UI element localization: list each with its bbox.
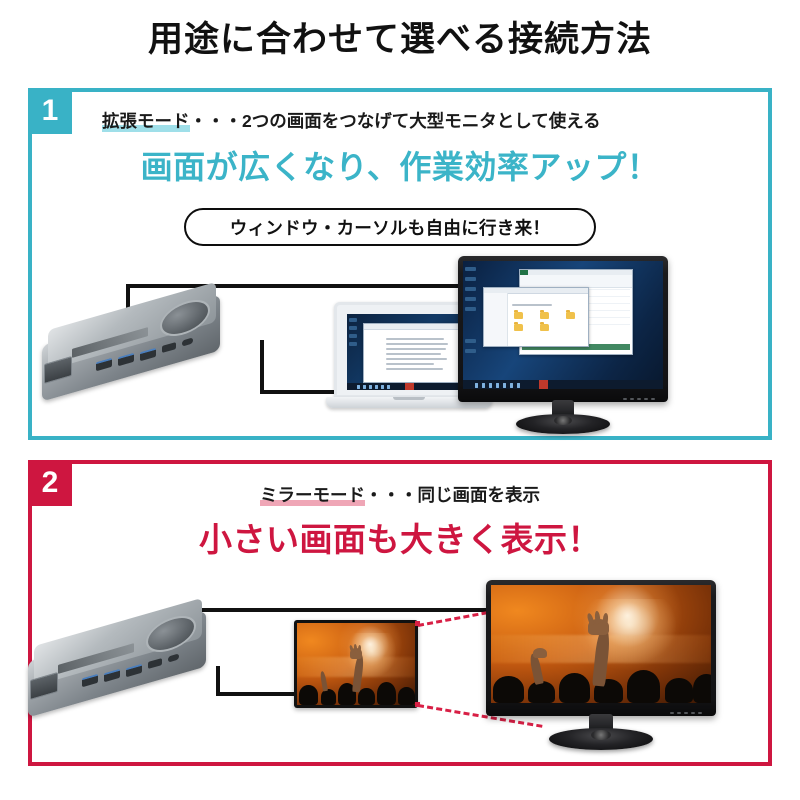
crowd-head <box>693 674 711 703</box>
section-1-badge: 1 <box>28 88 72 134</box>
section-1-subtitle: 拡張モード・・・2つの画面をつなげて大型モニタとして使える <box>102 108 601 134</box>
monitor-osd-buttons[interactable] <box>623 398 655 400</box>
cable2-horizontal-top <box>186 608 496 612</box>
monitor-bezel <box>458 256 668 402</box>
doc-line <box>386 368 443 370</box>
taskbar-icon <box>387 385 390 389</box>
crowd-head <box>627 670 660 703</box>
taskbar-icon <box>496 383 499 388</box>
taskbar-icon <box>375 385 378 389</box>
infographic-page: 用途に合わせて選べる接続方法 1 拡張モード・・・2つの画面をつなげて大型モニタ… <box>0 0 800 800</box>
file-explorer-window <box>483 287 589 347</box>
section-2-headline: 小さい画面も大きく表示！ <box>0 518 800 562</box>
folder-icon <box>566 312 575 319</box>
laptop-trackpad-notch <box>393 397 425 400</box>
laptop-desktop-icon-3 <box>349 334 357 338</box>
explorer-nav-pane <box>484 293 508 347</box>
monitor-base-hub <box>554 416 572 425</box>
crowd-head <box>321 689 336 705</box>
doc-line <box>386 353 441 355</box>
taskbar-icon <box>482 383 485 388</box>
concert-photo-small <box>297 623 415 705</box>
section-2-subtitle-rest: ・・・同じ画面を表示 <box>365 485 540 505</box>
external-monitor-2 <box>486 580 716 750</box>
laptop-desktop-icon-1 <box>349 318 357 322</box>
taskbar-icon <box>357 385 360 389</box>
doc-line <box>386 363 434 365</box>
desktop-icon-4 <box>465 297 476 301</box>
laptop-screen <box>347 314 475 390</box>
taskbar-icon <box>363 385 366 389</box>
small-display-device <box>294 620 418 708</box>
monitor-taskbar-active-app <box>539 380 548 389</box>
word-window-titlebar <box>364 324 470 330</box>
external-monitor <box>458 256 668 436</box>
taskbar-icon <box>517 383 520 388</box>
folder-icon <box>540 324 549 331</box>
crowd-head <box>559 673 590 703</box>
projection-corner-dot-bl <box>415 702 420 707</box>
cable-hub-to-monitor-horizontal <box>126 284 466 288</box>
taskbar-active-app <box>405 383 414 390</box>
taskbar-icon <box>510 383 513 388</box>
finger <box>602 613 608 625</box>
laptop-desktop-icon-4 <box>349 342 357 346</box>
desktop-icon-1 <box>465 267 476 271</box>
docking-hub-device <box>42 298 232 408</box>
monitor-screen <box>463 261 663 389</box>
doc-line <box>386 348 446 350</box>
section-1-illustration <box>28 256 772 436</box>
section-1-headline: 画面が広くなり、作業効率アップ！ <box>0 146 800 188</box>
doc-line <box>386 358 447 360</box>
crowd-head <box>299 685 318 705</box>
desktop-icon-2 <box>465 277 476 281</box>
monitor-screen-2 <box>491 585 711 703</box>
section-1-subtitle-highlight: 拡張モード <box>102 111 190 132</box>
crowd-head <box>398 687 415 705</box>
folder-icon <box>514 324 523 331</box>
cable2-horizontal-bottom <box>216 692 298 696</box>
section-2-subtitle-highlight: ミラーモード <box>260 485 365 506</box>
small-display-screen <box>297 623 415 705</box>
folder-icon <box>540 312 549 319</box>
folder-icon <box>514 312 523 319</box>
taskbar-icon <box>475 383 478 388</box>
crowd-head <box>528 681 554 703</box>
section-1-callout-text: ウィンドウ・カーソルも自由に行き来！ <box>230 215 550 240</box>
cable-hub-to-laptop-vertical <box>260 340 264 394</box>
section-1-callout-pill: ウィンドウ・カーソルも自由に行き来！ <box>184 208 596 246</box>
taskbar-icon <box>503 383 506 388</box>
taskbar-icon <box>489 383 492 388</box>
desktop-icon-6 <box>465 339 476 343</box>
taskbar-icon <box>369 385 372 389</box>
projection-corner-dot-tl <box>415 621 420 626</box>
doc-line <box>386 338 444 340</box>
desktop-icon-7 <box>465 349 476 353</box>
laptop-desktop-icon-2 <box>349 326 357 330</box>
crowd-head <box>665 678 694 703</box>
laptop-word-window <box>363 323 471 383</box>
monitor-bezel-2 <box>486 580 716 716</box>
section-2-illustration <box>28 580 772 755</box>
desktop-icon-5 <box>465 307 476 311</box>
desktop-icon-3 <box>465 287 476 291</box>
docking-hub-device-2 <box>28 614 218 724</box>
page-title: 用途に合わせて選べる接続方法 <box>0 18 800 62</box>
section-2-subtitle: ミラーモード・・・同じ画面を表示 <box>0 482 800 508</box>
section-1-subtitle-rest: ・・・2つの画面をつなげて大型モニタとして使える <box>190 111 601 131</box>
explorer-path-line <box>512 304 552 306</box>
section-2-badge: 2 <box>28 460 72 506</box>
concert-photo-large <box>491 585 711 703</box>
monitor-taskbar <box>463 380 663 389</box>
raised-hand-small <box>533 648 547 659</box>
crowd-head <box>358 688 375 705</box>
crowd-head <box>377 682 396 705</box>
crowd-head <box>493 676 524 703</box>
doc-line <box>386 343 448 345</box>
monitor-osd-buttons-2[interactable] <box>670 712 702 714</box>
taskbar-icon <box>381 385 384 389</box>
monitor-base-hub-2 <box>591 730 611 740</box>
